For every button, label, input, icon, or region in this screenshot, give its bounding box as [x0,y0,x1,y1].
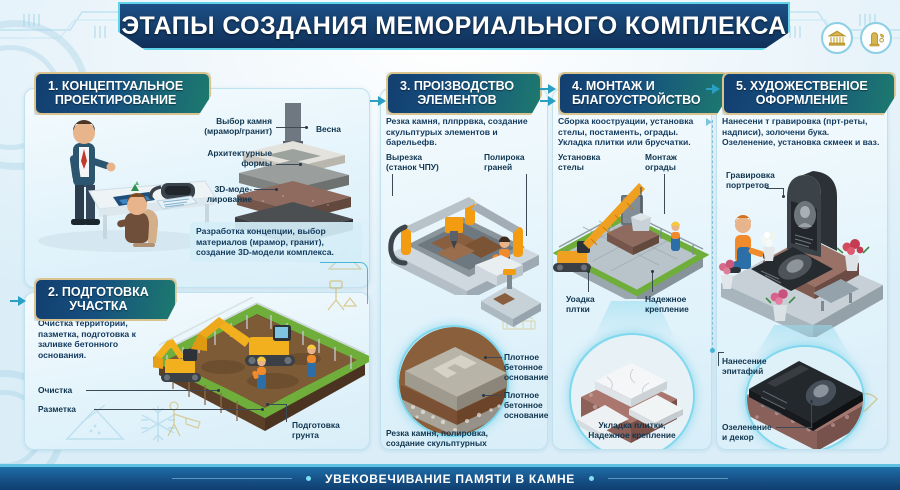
callout-clearing: Очистка [38,385,72,395]
stage-3-description: Резка камня, плпррвка, создание скульпту… [386,116,542,148]
illustration-concrete-cross-section [399,327,509,437]
leader-dot [305,126,308,129]
stage-tab-3[interactable]: 3. ПРОІЗВОДСТВО ЭЛЕМЕНТОВ [386,72,542,115]
stage-4-zoom-caption: Укладка плитки, Надежное крепление [558,420,706,440]
stage-5-description: Нанесени т гравировка (прт-реты, надписи… [722,116,882,148]
leader-dot [651,270,654,273]
mausoleum-icon[interactable] [821,22,853,54]
connector-dashed-line [712,120,713,350]
page-title-banner: ЭТАПЫ СОЗДАНИЯ МЕМОРИАЛЬНОГО КОМПЛЕКСА [118,2,790,50]
leader-line [486,357,502,358]
callout-architectural-forms: Архитектурные формы [164,148,272,168]
leader-line [588,272,589,292]
stage-tab-4-line1: 4. МОНТАЖ И [572,79,701,93]
callout-tile-laying: Уоадка плтки [566,294,595,314]
leader-dot [299,163,302,166]
leader-dot [275,188,278,191]
callout-soil-prep: Подготовка грунта [292,420,340,440]
leader-line [526,174,527,236]
callout-stele-installation: Установка стелы [558,152,600,172]
footer-dot-left [306,476,311,481]
leader-line [276,164,300,165]
leader-dot [810,400,813,403]
leader-line [254,189,276,190]
leader-line [94,409,262,410]
callout-landscaping-decor: Озеленение и декор [722,422,772,442]
callout-portrait-engraving: Гравировка портретов [726,170,775,190]
leader-line [811,402,812,428]
stage-tab-5-line2: ОФОРМЛЕНИЕ [736,93,868,107]
leader-dot [261,408,264,411]
callout-dense-concrete-base-2: Плотное бетонное основание [504,390,548,420]
leader-line [652,272,653,292]
stage-4-description: Сборка кооструации, установка стелы, пос… [558,116,708,148]
connector-dot [710,348,715,353]
footer-line-left [172,478,292,479]
header: ЭТАПЫ СОЗДАНИЯ МЕМОРИАЛЬНОГО КОМПЛЕКСА [0,0,900,62]
flow-arrow-3-to-4-a [548,84,556,94]
flow-arrow-into-2 [18,296,26,306]
callout-cutting-cnc: Вырезка (станок ЧПУ) [386,152,439,172]
leader-line [392,174,393,196]
stage-tab-3-line2: ЭЛЕМЕНТОВ [400,93,514,107]
leader-dot [782,195,785,198]
zoom-detail-concrete-base[interactable] [397,325,509,437]
leader-line [776,427,812,428]
connector-pipe [320,262,368,304]
connector-arrow [706,118,712,126]
callout-stone-choice: Выбор камня (мрамор/гранит) [176,116,272,136]
leader-dot [482,394,485,397]
leader-dot [484,356,487,359]
leader-dot [266,403,269,406]
callout-epitaph-application: Нанесение эпитафий [722,356,767,376]
stage-tab-4[interactable]: 4. МОНТАЖ И БЛАГОУСТРОЙСТВО [558,72,729,115]
callout-edge-polishing: Полирока граней [484,152,524,172]
footer-banner: УВЕКОВЕЧИВАНИЕ ПАМЯТИ В КАМНЕ [0,464,900,490]
callout-marking: Разметка [38,404,76,414]
footer-line-right [608,478,728,479]
flow-arrow-3-to-4-b [548,96,556,106]
stage-2-description: Очистка территории, пазметка, подготовка… [38,318,158,360]
illustration-sculpt-bench [477,265,547,335]
leader-dot [217,389,220,392]
stage-3-zoom-caption: Резка камня, полировка, создание скульпт… [386,428,538,448]
stage-tab-1[interactable]: 1. КОНЦЕПТУАЛЬНОЕ ПРОЕКТИРОВАНИЕ [34,72,211,115]
leader-line [664,174,665,214]
leader-line [718,352,724,353]
leader-line [276,127,306,128]
stage-tab-5-line1: 5. ХУДОЖЕСТВЕНІОЕ [736,79,868,93]
stage-1-description: Разработка концепции, выбор материалов (… [190,222,362,262]
leader-dot [587,270,590,273]
illustration-installation-site [553,159,712,299]
callout-dense-concrete-base-1: Плотное бетонное основание [504,352,548,382]
stage-tab-4-line2: БЛАГОУСТРОЙСТВО [572,93,701,107]
callout-secure-fastening: Надежное крепление [645,294,689,314]
gravestone-leaf-icon[interactable] [860,22,892,54]
leader-line [268,404,287,405]
page-title: ЭТАПЫ СОЗДАНИЯ МЕМОРИАЛЬНОГО КОМПЛЕКСА [121,12,786,41]
footer-dot-right [589,476,594,481]
callout-fence-mounting: Монтаж ограды [645,152,677,172]
flow-arrow-1-to-3 [378,96,386,106]
leader-line [484,395,502,396]
leader-line [86,390,218,391]
footer-text: УВЕКОВЕЧИВАНИЕ ПАМЯТИ В КАМНЕ [325,472,575,486]
leader-line [718,352,719,366]
stage-tab-2-line2: УЧАСТКА [48,299,149,313]
stage-tab-2-line1: 2. ПОДГОТОВКА [48,285,149,299]
stage-tab-5[interactable]: 5. ХУДОЖЕСТВЕНІОЕ ОФОРМЛЕНИЕ [722,72,896,115]
stage-tab-2[interactable]: 2. ПОДГОТОВКА УЧАСТКА [34,278,177,321]
callout-3d-modeling: 3D-моде- лирование [160,184,252,204]
leader-line [286,404,287,422]
callout-vesna: Весна [316,124,341,134]
flow-arrow-4-to-5 [712,84,720,94]
stage-tab-3-line1: 3. ПРОІЗВОДСТВО [400,79,514,93]
stage-tab-1-line2: ПРОЕКТИРОВАНИЕ [48,93,183,107]
stage-tab-1-line1: 1. КОНЦЕПТУАЛЬНОЕ [48,79,183,93]
